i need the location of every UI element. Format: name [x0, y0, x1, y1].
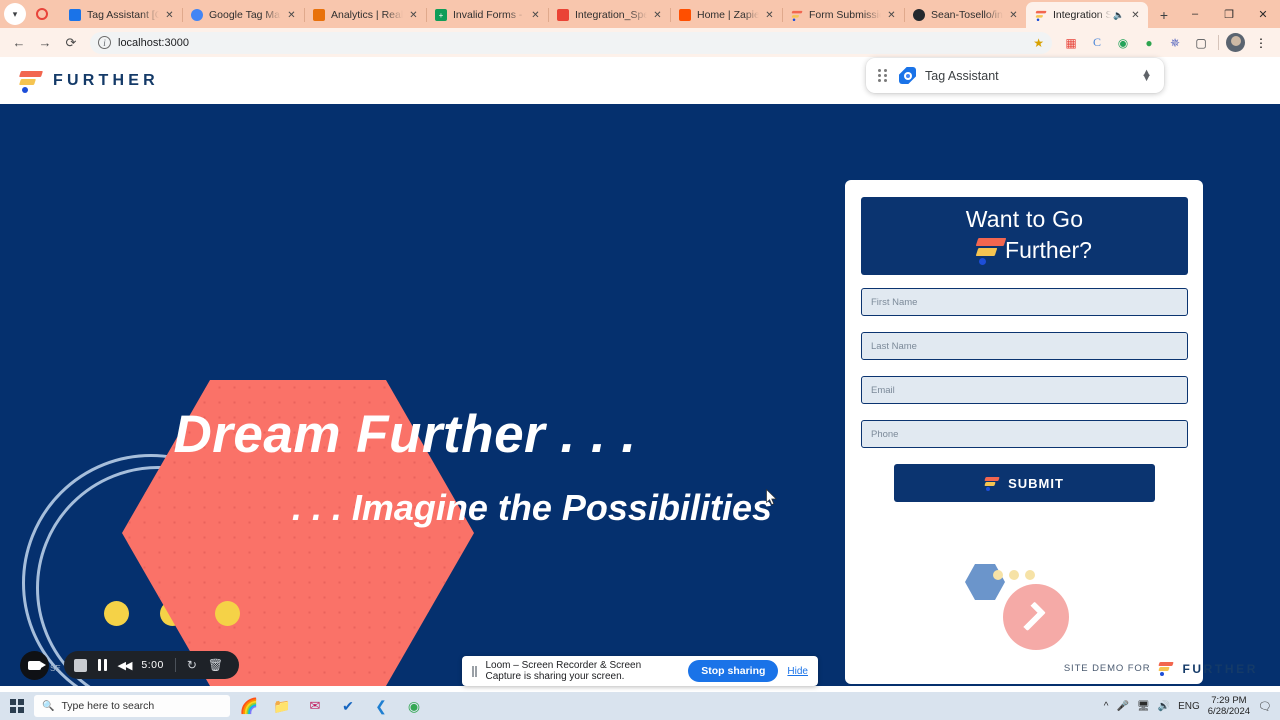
drag-handle-icon[interactable] [878, 69, 889, 82]
tab-title: Integration Spec [1053, 9, 1111, 21]
windows-taskbar: 🔍 Type here to search 🌈 📁 ✉ ✔ ❮ ◉ ^ 🎤 🖥 … [0, 692, 1280, 720]
tab-close-icon[interactable]: ✕ [163, 9, 176, 22]
mail-icon[interactable]: ✉ [302, 693, 328, 719]
decorative-chevron-circle [1003, 584, 1069, 650]
volume-icon[interactable]: 🔊 [1158, 701, 1170, 712]
further-logo-icon [985, 476, 999, 491]
delete-icon[interactable]: 🗑 [208, 658, 223, 672]
site-brand[interactable]: FURTHER [20, 69, 159, 93]
window-maximize-button[interactable]: ❐ [1212, 0, 1246, 28]
tab-title: Analytics | Realtime [331, 9, 403, 21]
form-icon [791, 9, 803, 21]
site-demo-brand: FURTHER [1182, 662, 1258, 676]
window-controls: – ❐ ✕ [1178, 0, 1280, 28]
language-indicator[interactable]: ENG [1178, 701, 1200, 712]
tab-close-icon[interactable]: ✕ [285, 9, 298, 22]
share-message: Loom – Screen Recorder & Screen Capture … [486, 660, 680, 682]
weather-icon[interactable]: 🌈 [236, 693, 262, 719]
tab-title: Tag Assistant [Conn [87, 9, 159, 21]
form-decoration [965, 542, 1115, 652]
network-icon[interactable]: 🖥 [1137, 701, 1150, 712]
submit-button-label: SUBMIT [1008, 476, 1064, 491]
submit-button[interactable]: SUBMIT [894, 464, 1155, 502]
loom-camera-button[interactable] [20, 651, 49, 680]
first-name-placeholder: First Name [871, 297, 917, 308]
lead-form-card: Want to Go Further? First Name Last Name [845, 180, 1203, 684]
screen: ▾ Tag Assistant [Conn ✕ Google Tag Manag… [0, 0, 1280, 720]
further-logo-icon [967, 235, 995, 266]
hero-subheadline: . . . Imagine the Possibilities [0, 487, 800, 529]
last-name-placeholder: Last Name [871, 341, 917, 352]
tab-audio-icon[interactable]: 🔈 [1113, 10, 1125, 21]
decorative-dot-3 [215, 601, 240, 626]
tab-title: Sean-Tosello/integra [931, 9, 1003, 21]
taskbar-time: 7:29 PM [1211, 695, 1246, 706]
expand-collapse-icon[interactable]: ▲▼ [1141, 71, 1152, 81]
tab-title: Invalid Forms - Goo [453, 9, 525, 21]
phone-input[interactable]: Phone [861, 420, 1188, 448]
address-bar-text: localhost:3000 [118, 37, 189, 49]
profile-avatar[interactable] [1226, 33, 1245, 52]
extension-gear-icon[interactable]: ✵ [1164, 32, 1186, 54]
tab-close-icon[interactable]: ✕ [651, 9, 664, 22]
chrome-menu-icon[interactable]: ⋮ [1250, 32, 1272, 54]
form-heading-line2: Further? [1005, 237, 1092, 264]
file-explorer-icon[interactable]: 📁 [269, 693, 295, 719]
analytics-icon [313, 9, 325, 21]
last-name-input[interactable]: Last Name [861, 332, 1188, 360]
back-button[interactable]: ← [6, 30, 32, 56]
loom-timer: 5:00 [141, 659, 163, 671]
search-icon: 🔍 [42, 701, 54, 712]
github-icon [913, 9, 925, 21]
decorative-small-dot-3 [1025, 570, 1035, 580]
browser-tab-1[interactable]: Google Tag Manage ✕ [182, 2, 304, 28]
tab-close-icon[interactable]: ✕ [407, 9, 420, 22]
sheets-icon: + [435, 9, 447, 21]
drag-handle-icon[interactable] [472, 666, 477, 677]
further-logo-icon [20, 69, 42, 93]
recording-indicator-icon [32, 4, 52, 24]
hide-share-bar-link[interactable]: Hide [787, 666, 808, 677]
windows-start-icon [10, 699, 24, 713]
browser-tab-6[interactable]: Form Submission Re ✕ [782, 2, 904, 28]
tag-assistant-icon [899, 67, 916, 84]
loom-divider [175, 658, 176, 672]
site-demo-footer: SITE DEMO FOR FURTHER [1064, 661, 1258, 676]
tag-assistant-widget[interactable]: Tag Assistant ▲▼ [866, 58, 1164, 93]
phone-placeholder: Phone [871, 429, 898, 440]
doc-icon [557, 9, 569, 21]
decorative-small-dot-2 [1009, 570, 1019, 580]
tab-close-icon[interactable]: ✕ [1007, 9, 1020, 22]
reload-button[interactable]: ⟳ [58, 30, 84, 56]
decorative-dot-1 [104, 601, 129, 626]
camera-icon [28, 661, 41, 670]
browser-tab-0[interactable]: Tag Assistant [Conn ✕ [60, 2, 182, 28]
tab-title: Home | Zapier [697, 9, 759, 21]
browser-tab-2[interactable]: Analytics | Realtime ✕ [304, 2, 426, 28]
browser-tab-strip: ▾ Tag Assistant [Conn ✕ Google Tag Manag… [0, 0, 1280, 28]
decorative-small-dot-1 [993, 570, 1003, 580]
hero-headline: Dream Further . . . [0, 404, 800, 465]
page-content: FURTHER Tag Assistant ▲▼ Dream Further .… [0, 57, 1280, 686]
todoist-icon[interactable]: ✔ [335, 693, 361, 719]
mouse-cursor-icon [766, 489, 778, 506]
window-minimize-button[interactable]: – [1178, 0, 1212, 28]
extension-puzzle-icon[interactable]: ▢ [1190, 32, 1212, 54]
email-placeholder: Email [871, 385, 895, 396]
system-tray: ^ 🎤 🖥 🔊 ENG 7:29 PM 6/28/2024 🗨 [1104, 695, 1280, 717]
tab-title: Google Tag Manage [209, 9, 281, 21]
extension-green-icon[interactable]: ● [1138, 32, 1160, 54]
new-tab-button[interactable]: + [1152, 3, 1176, 27]
form-heading: Want to Go Further? [861, 197, 1188, 275]
form-heading-line1: Want to Go [966, 206, 1083, 233]
rewind-icon[interactable]: ◀◀ [118, 659, 131, 672]
loom-recording-controls: ◀◀ 5:00 ↻ 🗑 [64, 651, 239, 679]
site-demo-text: SITE DEMO FOR [1064, 663, 1151, 674]
first-name-input[interactable]: First Name [861, 288, 1188, 316]
show-hidden-icons-icon[interactable]: ^ [1104, 701, 1109, 712]
stop-sharing-button[interactable]: Stop sharing [688, 660, 778, 682]
forward-button[interactable]: → [32, 30, 58, 56]
tab-close-icon[interactable]: ✕ [763, 9, 776, 22]
tag-assistant-label: Tag Assistant [925, 69, 1141, 83]
microphone-icon[interactable]: 🎤 [1116, 701, 1128, 712]
vscode-icon[interactable]: ❮ [368, 693, 394, 719]
toolbar-divider [1218, 35, 1219, 50]
tab-close-icon[interactable]: ✕ [529, 9, 542, 22]
tab-title: Form Submission Re [809, 9, 881, 21]
extension-icons: ▦ C ◉ ● ✵ ▢ ⋮ [1058, 32, 1274, 54]
tabstrip-left-controls: ▾ [0, 0, 60, 28]
loom-se-label: SE [50, 664, 61, 673]
notifications-icon[interactable]: 🗨 [1258, 700, 1272, 713]
browser-tab-3[interactable]: + Invalid Forms - Goo ✕ [426, 2, 548, 28]
chevron-right-icon [1016, 601, 1046, 631]
hero-section: Dream Further . . . . . . Imagine the Po… [0, 104, 1280, 686]
tab-search-chevron-icon[interactable]: ▾ [4, 3, 26, 25]
tab-close-icon[interactable]: ✕ [885, 9, 898, 22]
browser-tab-7[interactable]: Sean-Tosello/integra ✕ [904, 2, 1026, 28]
info-icon[interactable]: i [98, 36, 111, 49]
extension-whatsapp-icon[interactable]: ◉ [1112, 32, 1134, 54]
chrome-icon[interactable]: ◉ [401, 693, 427, 719]
taskbar-search-input[interactable]: 🔍 Type here to search [34, 695, 230, 717]
bookmark-star-icon[interactable]: ★ [1033, 36, 1044, 50]
tag-assistant-icon [69, 9, 81, 21]
browser-tab-4[interactable]: Integration_Specialis ✕ [548, 2, 670, 28]
brand-name: FURTHER [53, 72, 159, 90]
restart-icon[interactable]: ↻ [187, 658, 197, 672]
form-heading-line2-row: Further? [957, 235, 1092, 266]
hero-copy: Dream Further . . . . . . Imagine the Po… [0, 404, 800, 529]
further-logo-icon [1159, 661, 1173, 676]
taskbar-date: 6/28/2024 [1208, 706, 1250, 717]
browser-tab-8-active[interactable]: Integration Spec 🔈 ✕ [1026, 2, 1148, 28]
email-input[interactable]: Email [861, 376, 1188, 404]
tab-title: Integration_Specialis [575, 9, 647, 21]
browser-tab-5[interactable]: Home | Zapier ✕ [670, 2, 782, 28]
tab-list: Tag Assistant [Conn ✕ Google Tag Manage … [60, 0, 1178, 28]
taskbar-apps: 🌈 📁 ✉ ✔ ❮ ◉ [236, 693, 427, 719]
further-icon [1035, 9, 1047, 21]
extension-red-icon[interactable]: ▦ [1060, 32, 1082, 54]
taskbar-search-placeholder: Type here to search [61, 700, 154, 712]
stop-recording-icon[interactable] [74, 659, 87, 672]
browser-toolbar: ← → ⟳ i localhost:3000 ★ ▦ C ◉ ● ✵ ▢ ⋮ [0, 28, 1280, 57]
zapier-icon [679, 9, 691, 21]
screen-share-bar: Loom – Screen Recorder & Screen Capture … [462, 656, 818, 686]
window-close-button[interactable]: ✕ [1246, 0, 1280, 28]
pause-icon[interactable] [98, 659, 107, 671]
tab-close-icon[interactable]: ✕ [1129, 9, 1142, 22]
windows-start-button[interactable] [0, 699, 34, 713]
address-bar[interactable]: i localhost:3000 ★ [90, 32, 1052, 54]
gtm-icon [191, 9, 203, 21]
taskbar-clock[interactable]: 7:29 PM 6/28/2024 [1208, 695, 1250, 717]
extension-c-icon[interactable]: C [1086, 32, 1108, 54]
